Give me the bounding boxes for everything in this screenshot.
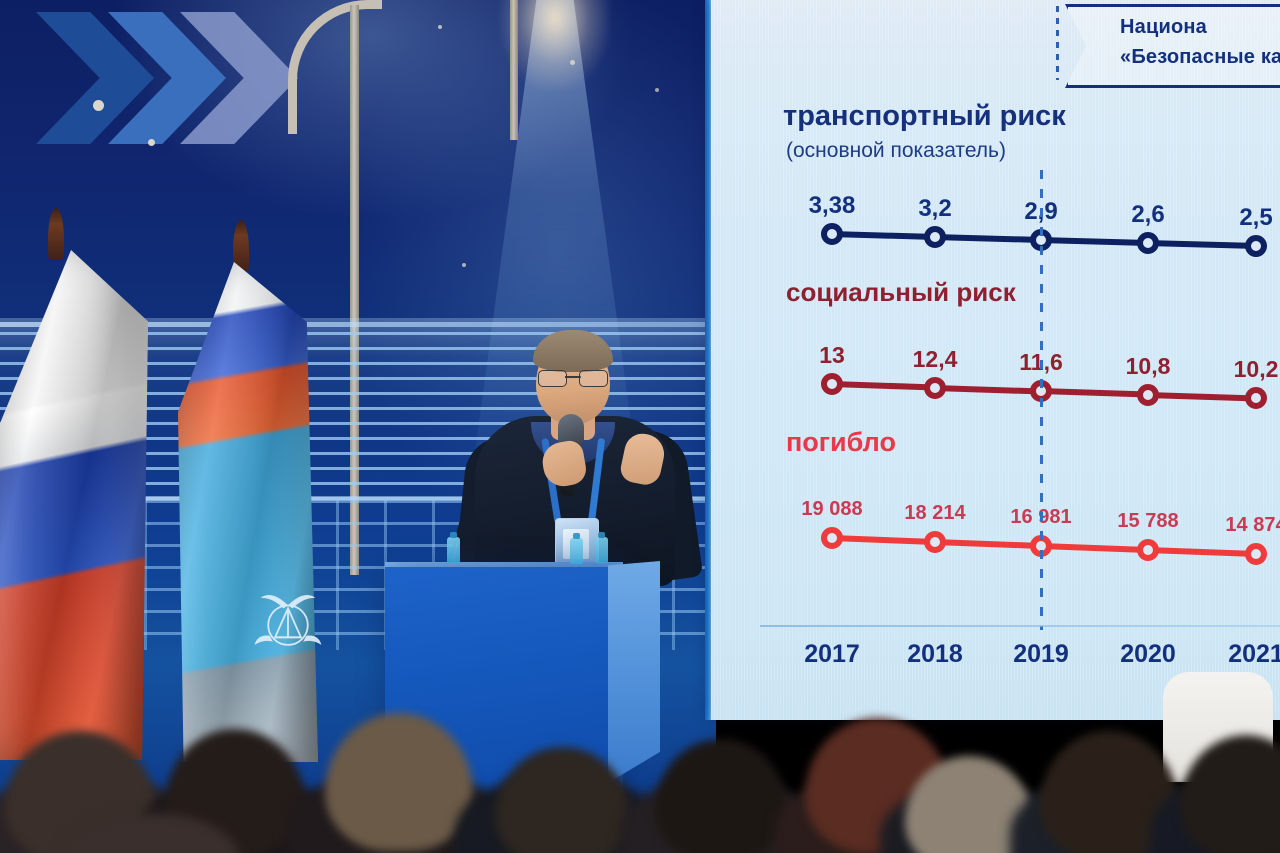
chart-data-point: [1245, 235, 1267, 257]
chevron-icon-3: [180, 12, 298, 144]
decor-dot: [438, 25, 442, 29]
audience-head: [495, 747, 630, 853]
audience-head: [1180, 735, 1280, 853]
ribbon-line-2: «Безопасные ка: [1120, 42, 1280, 72]
chart-data-point: [1137, 384, 1159, 406]
chart-x-axis-line: [760, 625, 1280, 627]
chart-value-label: 14 874: [1225, 514, 1280, 537]
street-lamp-pole-secondary: [510, 0, 518, 140]
chart-data-point: [821, 373, 843, 395]
audience-head: [325, 713, 473, 851]
chart-data-point: [1137, 232, 1159, 254]
chart-value-label: 18 214: [904, 502, 965, 525]
water-bottle: [595, 537, 608, 563]
chart-value-label: 19 088: [801, 498, 862, 521]
eyeglasses-icon: [538, 370, 608, 385]
ribbon-text: Национа «Безопасные ка: [1120, 12, 1280, 72]
died-heading: погибло: [786, 427, 896, 458]
water-bottle: [570, 538, 583, 564]
ribbon-dashed-edge: [1056, 6, 1059, 80]
chart-data-point: [924, 226, 946, 248]
ribbon-line-1: Национа: [1120, 12, 1280, 42]
chart-value-label: 2,6: [1131, 201, 1164, 229]
audience-silhouettes: [0, 678, 1280, 853]
street-lamp-arm: [288, 0, 382, 134]
chart-value-label: 2,5: [1239, 204, 1272, 232]
decor-dot: [570, 60, 575, 65]
water-bottle: [447, 537, 460, 563]
ministry-emblem-icon: [250, 570, 326, 662]
chart-data-point: [821, 527, 843, 549]
chart-data-point: [1245, 387, 1267, 409]
x-axis-tick-2020: 2020: [1120, 640, 1176, 669]
x-axis-tick-2021: 2021: [1228, 640, 1280, 669]
conference-photo-scene: Национа «Безопасные ка транспортный риск…: [0, 0, 1280, 853]
transport-risk-subheading: (основной показатель): [786, 139, 1006, 163]
chart-data-point: [1137, 539, 1159, 561]
x-axis-tick-2017: 2017: [804, 640, 860, 669]
chart-data-point: [821, 223, 843, 245]
chart-value-label: 3,38: [809, 192, 856, 220]
chart-value-label: 3,2: [918, 195, 951, 223]
social-risk-heading: социальный риск: [786, 277, 1016, 308]
chart-data-point: [1245, 543, 1267, 565]
speaker-hair: [533, 330, 613, 372]
chart-data-point: [924, 377, 946, 399]
year-divider-dashed-line: [1040, 170, 1043, 630]
chart-data-point: [924, 531, 946, 553]
decor-dot: [93, 100, 104, 111]
chart-value-label: 15 788: [1117, 510, 1178, 533]
chart-value-label: 13: [819, 342, 845, 369]
chart-value-label: 12,4: [913, 346, 958, 373]
decor-dot: [655, 88, 659, 92]
audience-head: [655, 739, 787, 853]
transport-risk-heading: транспортный риск: [783, 100, 1066, 133]
x-axis-tick-2019: 2019: [1013, 640, 1069, 669]
decor-dot: [148, 139, 155, 146]
chart-value-label: 10,8: [1126, 353, 1171, 380]
decor-dot: [462, 263, 466, 267]
chart-value-label: 10,2: [1234, 356, 1279, 383]
x-axis-tick-2018: 2018: [907, 640, 963, 669]
